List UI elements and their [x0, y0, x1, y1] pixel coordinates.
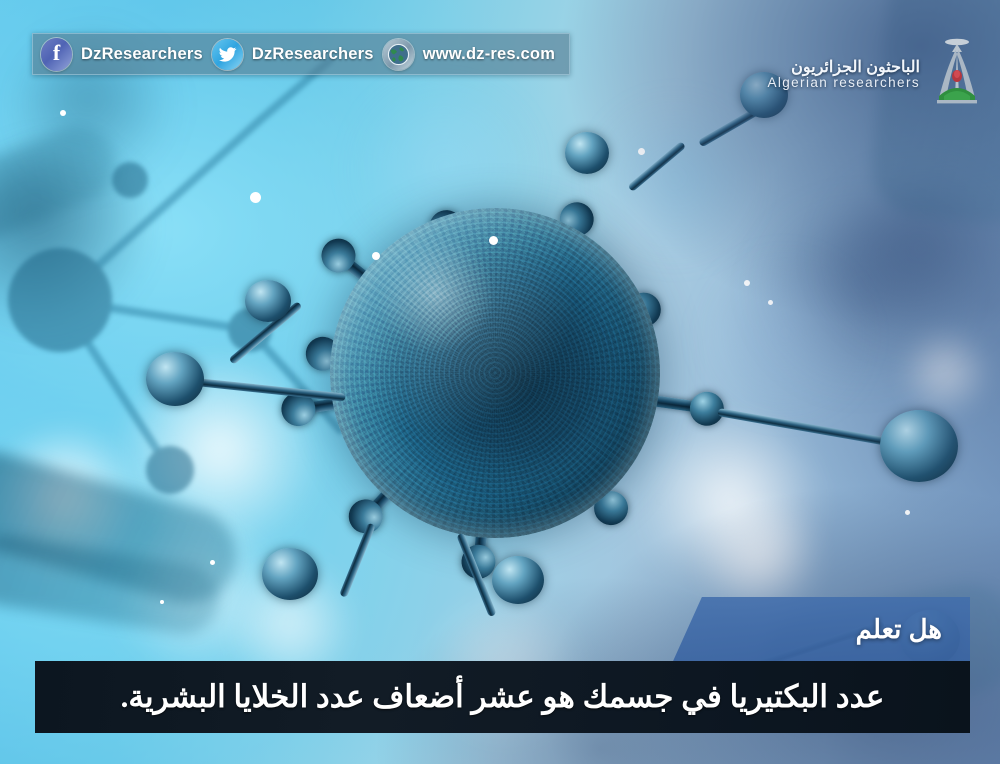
- website-url-label: www.dz-res.com: [423, 45, 555, 64]
- globe-icon[interactable]: [383, 39, 414, 70]
- did-you-know-banner: هل تعلم: [645, 597, 970, 662]
- brand-logo-text: الباحثون الجزائريون Algerian researchers: [767, 60, 920, 91]
- social-link-website[interactable]: www.dz-res.com: [383, 39, 555, 70]
- fact-text: عدد البكتيريا في جسمك هو عشر أضعاف عدد ا…: [121, 679, 885, 715]
- bokeh-circle: [0, 430, 140, 580]
- virus-stalk: [627, 141, 686, 192]
- social-link-facebook[interactable]: f DzResearchers: [41, 38, 203, 71]
- facebook-icon[interactable]: f: [41, 38, 72, 71]
- twitter-handle-label: DzResearchers: [252, 45, 374, 64]
- sparkle-dot: [905, 510, 910, 515]
- bokeh-circle: [118, 520, 278, 680]
- brand-name-arabic: الباحثون الجزائريون: [767, 60, 920, 77]
- virus-body: [330, 208, 660, 538]
- virus-rim-light: [330, 208, 660, 538]
- bokeh-circle: [710, 265, 860, 415]
- bacteria-rod: [0, 440, 247, 614]
- virus-spike: [473, 378, 500, 563]
- bacteria-rod: [0, 115, 127, 259]
- bokeh-circle: [900, 330, 990, 420]
- did-you-know-label: هل تعلم: [856, 614, 942, 645]
- sparkle-dot: [489, 236, 498, 245]
- sparkle-dot: [768, 300, 773, 305]
- satellite-virus: [880, 410, 958, 482]
- fact-bar: عدد البكتيريا في جسمك هو عشر أضعاف عدد ا…: [35, 661, 970, 733]
- sparkle-dot: [60, 110, 66, 116]
- virus-stalk: [717, 408, 906, 449]
- virus-texture: [330, 208, 660, 538]
- virus-spike: [334, 251, 498, 383]
- sparkle-dot: [638, 148, 645, 155]
- bokeh-circle: [120, 360, 320, 560]
- sparkle-dot: [250, 192, 261, 203]
- sparkle-dot: [744, 280, 750, 286]
- virus-spike: [490, 216, 582, 381]
- bacteria-rod: [0, 531, 224, 639]
- poster-canvas: f DzResearchers DzResearchers: [0, 0, 1000, 764]
- social-link-twitter[interactable]: DzResearchers: [212, 39, 374, 70]
- bokeh-circle: [0, 150, 150, 340]
- virus-spike: [321, 349, 496, 384]
- sparkle-dot: [210, 560, 215, 565]
- virus-spike: [297, 373, 496, 415]
- bokeh-circle: [760, 215, 960, 385]
- twitter-icon[interactable]: [212, 39, 243, 70]
- satellite-virus: [245, 280, 291, 322]
- virus-spike: [491, 375, 616, 512]
- social-links-bar: f DzResearchers DzResearchers: [32, 33, 570, 75]
- bacteria-rod: [867, 0, 1000, 228]
- bokeh-circle: [830, 180, 1000, 350]
- virus-stalk: [196, 378, 346, 402]
- virus-stalk: [228, 301, 302, 365]
- bokeh-circle: [360, 90, 530, 260]
- satellite-virus: [146, 352, 204, 406]
- virus-spike: [361, 375, 499, 521]
- brand-logo[interactable]: الباحثون الجزائريون Algerian researchers: [767, 36, 988, 114]
- satellite-virus: [492, 556, 544, 604]
- maqam-echahid-monument-icon: [926, 36, 988, 114]
- virus-spike: [440, 225, 500, 381]
- facebook-handle-label: DzResearchers: [81, 45, 203, 64]
- satellite-virus: [262, 548, 318, 600]
- sparkle-dot: [160, 600, 164, 604]
- brand-name-english: Algerian researchers: [767, 76, 920, 90]
- sparkle-dot: [372, 252, 380, 260]
- virus-spike: [494, 373, 708, 414]
- virus-stalk: [339, 523, 376, 598]
- virus-spike: [493, 304, 647, 384]
- bokeh-circle: [600, 110, 750, 260]
- satellite-virus: [565, 132, 609, 174]
- bokeh-circle: [640, 420, 820, 600]
- virus-stalk: [456, 533, 496, 618]
